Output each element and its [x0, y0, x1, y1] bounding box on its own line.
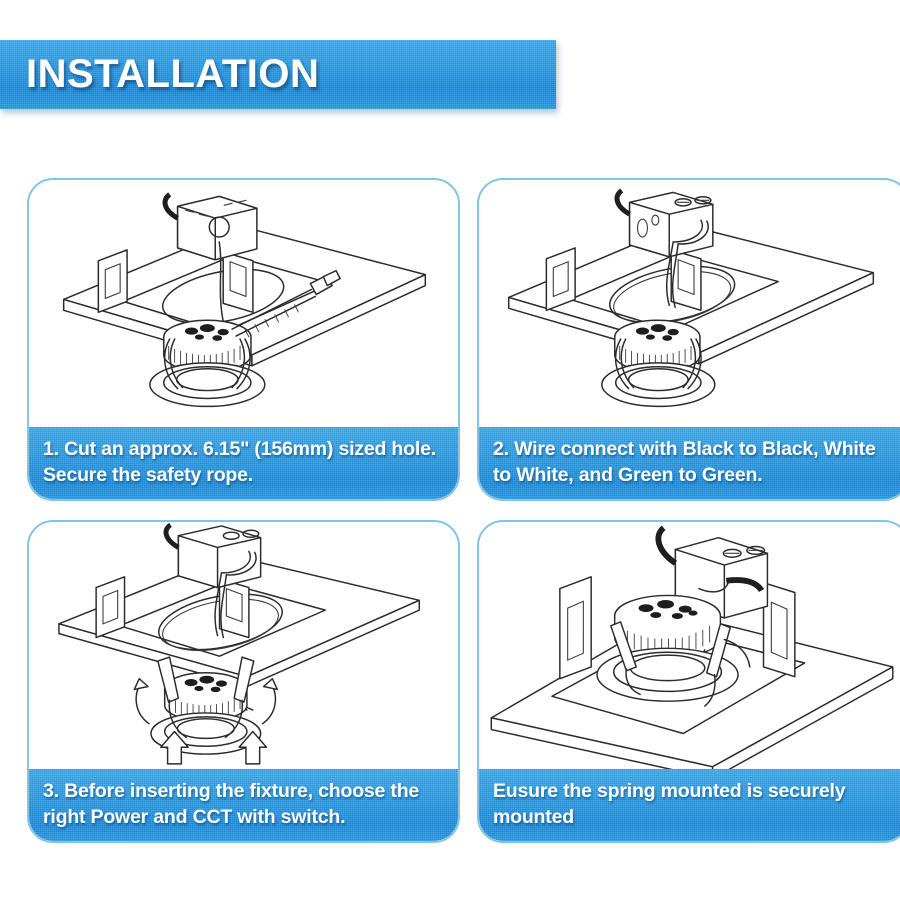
fixture-mounted-flush-diagram [479, 522, 900, 769]
step-2-caption-text: 2. Wire connect with Black to Black, Whi… [493, 436, 896, 488]
step-4-caption-text: Eusure the spring mounted is securely mo… [493, 778, 896, 830]
step-1-figure [29, 180, 458, 427]
step-2-figure [479, 180, 900, 427]
step-3-caption-band: 3. Before inserting the fixture, choose … [29, 769, 458, 841]
installation-steps-grid: 1. Cut an approx. 6.15" (156mm) sized ho… [27, 178, 873, 843]
wire-connection-diagram [479, 180, 900, 427]
step-card-1: 1. Cut an approx. 6.15" (156mm) sized ho… [27, 178, 460, 501]
step-1-caption-band: 1. Cut an approx. 6.15" (156mm) sized ho… [29, 427, 458, 499]
step-card-2: 2. Wire connect with Black to Black, Whi… [477, 178, 900, 501]
step-1-caption-text: 1. Cut an approx. 6.15" (156mm) sized ho… [43, 436, 446, 488]
step-2-caption-band: 2. Wire connect with Black to Black, Whi… [479, 427, 900, 499]
step-card-3: 3. Before inserting the fixture, choose … [27, 520, 460, 843]
spring-insert-fixture-diagram [29, 522, 458, 769]
step-4-figure [479, 522, 900, 769]
step-card-4: Eusure the spring mounted is securely mo… [477, 520, 900, 843]
step-3-caption-text: 3. Before inserting the fixture, choose … [43, 778, 446, 830]
page-title: INSTALLATION [26, 52, 319, 97]
step-3-figure [29, 522, 458, 769]
ceiling-hole-and-safety-rope-diagram [29, 180, 458, 427]
installation-header-banner: INSTALLATION [0, 40, 556, 109]
step-4-caption-band: Eusure the spring mounted is securely mo… [479, 769, 900, 841]
